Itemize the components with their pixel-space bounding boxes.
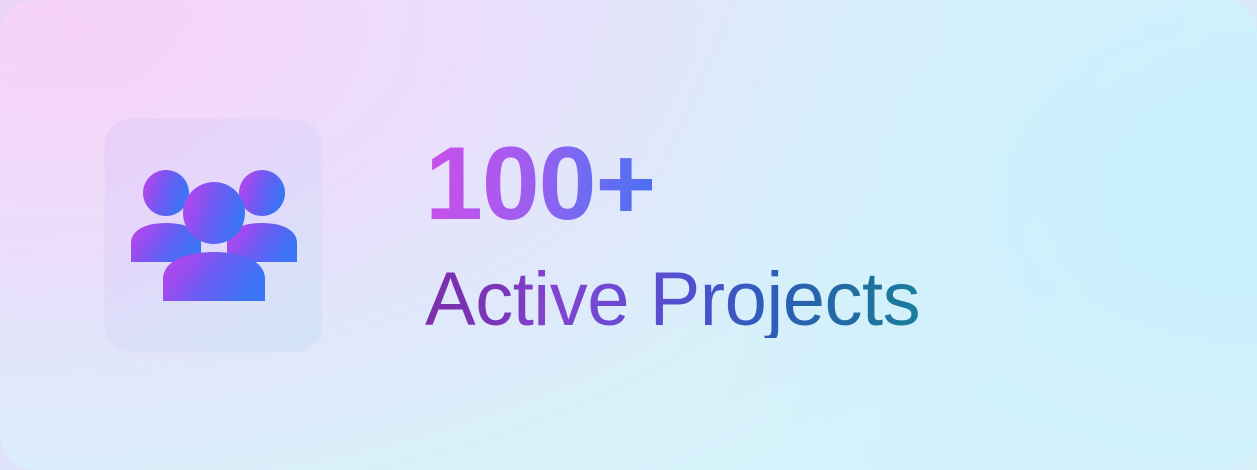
stat-card: 100+ Active Projects bbox=[0, 0, 1257, 470]
stat-card-content: 100+ Active Projects bbox=[105, 119, 920, 351]
icon-tile bbox=[105, 119, 322, 351]
people-group-icon bbox=[131, 169, 297, 301]
stat-text-block: 100+ Active Projects bbox=[425, 132, 920, 338]
stat-label: Active Projects bbox=[425, 262, 920, 338]
stat-value: 100+ bbox=[425, 132, 655, 236]
